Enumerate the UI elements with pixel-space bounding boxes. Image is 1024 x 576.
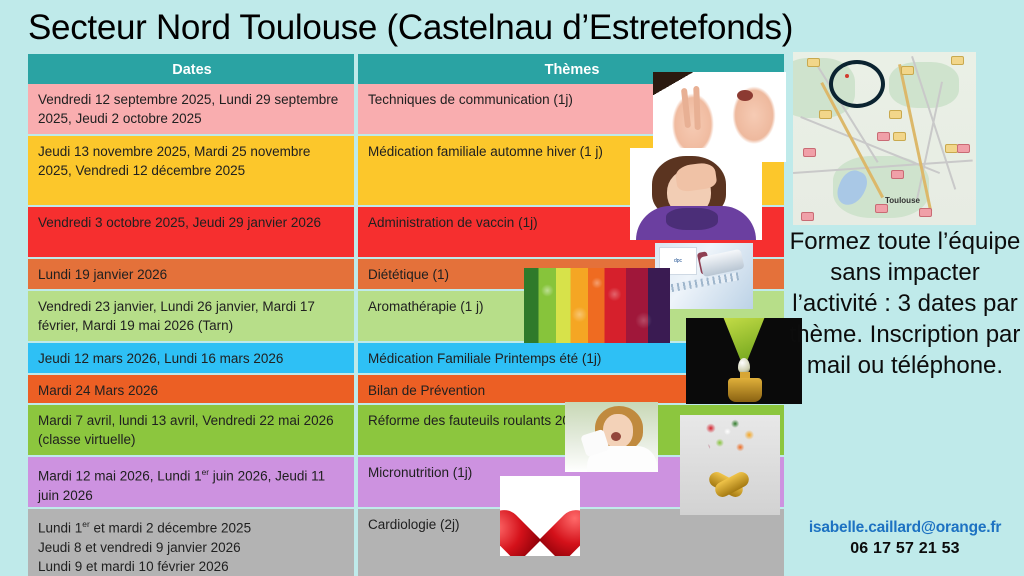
fruits-vegetables-photo	[524, 268, 670, 343]
map-city-label: Toulouse	[885, 196, 920, 205]
page-title: Secteur Nord Toulouse (Castelnau d’Estre…	[28, 6, 1008, 50]
row-dates-cell: Jeudi 13 novembre 2025, Mardi 25 novembr…	[26, 136, 356, 207]
table-row[interactable]: Mardi 12 mai 2026, Lundi 1er juin 2026, …	[26, 457, 786, 509]
table-row[interactable]: Lundi 1er et mardi 2 décembre 2025Jeudi …	[26, 509, 786, 576]
row-dates-cell: Mardi 24 Mars 2026	[26, 375, 356, 405]
table-row[interactable]: Jeudi 12 mars 2026, Lundi 16 mars 2026 M…	[26, 343, 786, 375]
supplement-capsules-photo	[680, 415, 780, 515]
row-dates-cell: Vendredi 23 janvier, Lundi 26 janvier, M…	[26, 291, 356, 343]
red-heart-photo	[500, 476, 580, 556]
row-dates-cell: Vendredi 3 octobre 2025, Jeudi 29 janvie…	[26, 207, 356, 259]
contact-block: isabelle.caillard@orange.fr 06 17 57 21 …	[786, 518, 1024, 559]
row-dates-cell: Lundi 19 janvier 2026	[26, 259, 356, 291]
promo-text: Formez toute l’équipe sans impacter l’ac…	[786, 226, 1024, 381]
sneezing-woman-photo	[565, 402, 658, 472]
table-row[interactable]: Mardi 7 avril, lundi 13 avril, Vendredi …	[26, 405, 786, 457]
row-dates-cell: Lundi 1er et mardi 2 décembre 2025Jeudi …	[26, 509, 356, 576]
row-dates-cell: Mardi 12 mai 2026, Lundi 1er juin 2026, …	[26, 457, 356, 509]
row-dates-cell: Mardi 7 avril, lundi 13 avril, Vendredi …	[26, 405, 356, 457]
row-dates-cell: Jeudi 12 mars 2026, Lundi 16 mars 2026	[26, 343, 356, 375]
map-highlight-circle	[829, 60, 885, 108]
column-header-dates: Dates	[26, 54, 356, 86]
sick-woman-photo	[630, 148, 762, 240]
toulouse-area-map: Toulouse	[793, 52, 976, 225]
contact-email-link[interactable]: isabelle.caillard@orange.fr	[786, 518, 1024, 538]
table-row[interactable]: Mardi 24 Mars 2026 Bilan de Prévention	[26, 375, 786, 405]
essential-oil-drop-photo	[686, 318, 802, 404]
contact-phone: 06 17 57 21 53	[786, 538, 1024, 559]
slide-canvas: Secteur Nord Toulouse (Castelnau d’Estre…	[0, 0, 1024, 576]
row-dates-cell: Vendredi 12 septembre 2025, Lundi 29 sep…	[26, 84, 356, 136]
